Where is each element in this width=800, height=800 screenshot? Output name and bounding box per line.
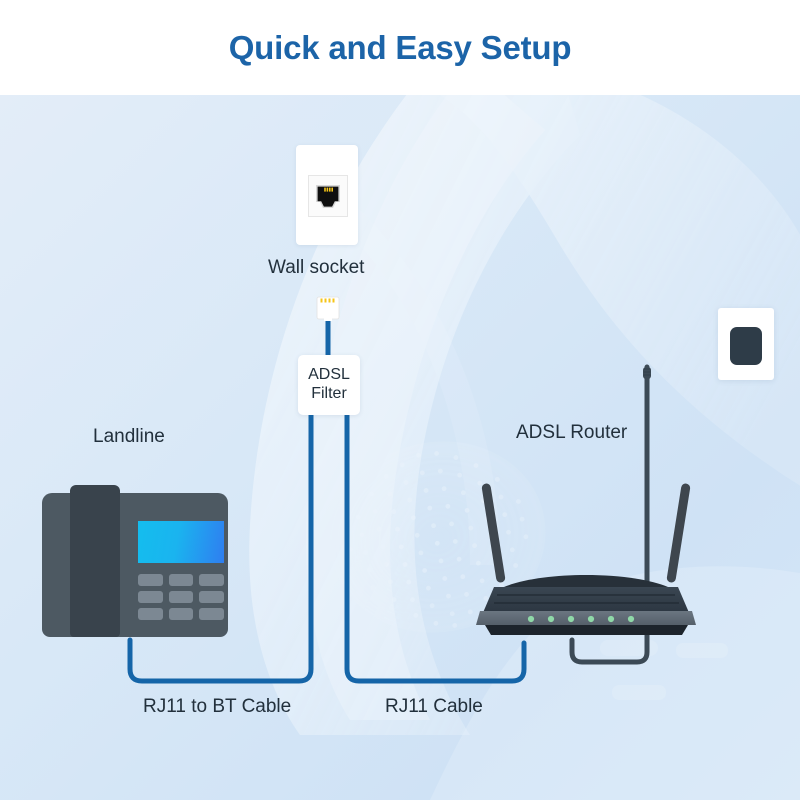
rj11-to-bt-cable-label: RJ11 to BT Cable [143, 696, 291, 718]
phone-key [169, 608, 194, 620]
diagram-canvas: ADSL Filter [0, 95, 800, 800]
phone-handset [70, 485, 120, 637]
landline-label: Landline [93, 426, 165, 448]
router-led [548, 616, 554, 622]
router-led [588, 616, 594, 622]
router-led [608, 616, 614, 622]
adsl-router-label: ADSL Router [516, 422, 627, 444]
phone-key [199, 591, 224, 603]
phone-key [169, 574, 194, 586]
router-led [628, 616, 634, 622]
phone-screen [138, 521, 224, 563]
router-base [485, 625, 688, 635]
page-title: Quick and Easy Setup [229, 29, 572, 67]
phone-key [199, 608, 224, 620]
router-led [528, 616, 534, 622]
phone-key [138, 608, 163, 620]
phone-key [138, 574, 163, 586]
rj11-cable-label: RJ11 Cable [385, 696, 483, 718]
router-antenna-left [481, 483, 506, 583]
landline-phone-device [42, 485, 228, 637]
router-front-bezel [476, 611, 696, 625]
page-header: Quick and Easy Setup [0, 0, 800, 95]
phone-key [138, 591, 163, 603]
router-chassis [482, 587, 690, 615]
phone-keypad [138, 574, 224, 620]
phone-key [169, 591, 194, 603]
router-antenna-right [666, 483, 691, 583]
phone-key [199, 574, 224, 586]
wall-socket-label: Wall socket [268, 257, 364, 279]
adsl-router-device [452, 475, 720, 639]
setup-diagram-page: Quick and Easy Setup [0, 0, 800, 800]
router-led [568, 616, 574, 622]
router-rear-dome [504, 575, 668, 587]
